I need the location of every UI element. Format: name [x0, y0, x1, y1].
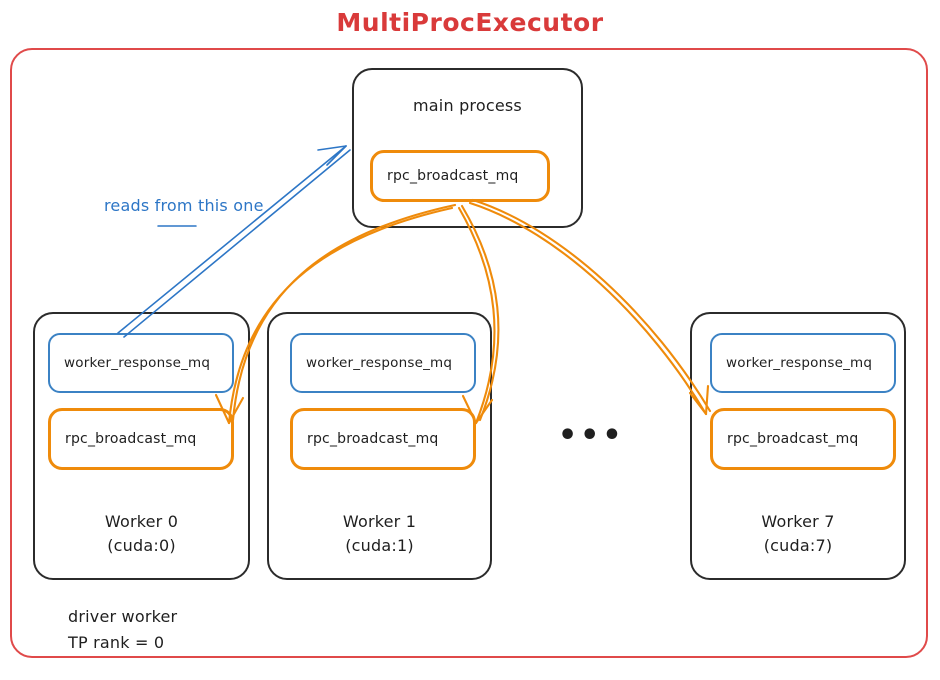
diagram-title: MultiProcExecutor	[0, 8, 940, 37]
worker-0-worker-response-mq-label: worker_response_mq	[50, 355, 210, 371]
worker-0-rpc-broadcast-mq-box[interactable]: rpc_broadcast_mq	[48, 408, 234, 470]
more-workers-ellipsis: •••	[558, 421, 618, 451]
worker-1-caption: Worker 1 (cuda:1)	[269, 510, 490, 558]
worker-7-device: (cuda:7)	[692, 534, 904, 558]
driver-worker-label: driver worker	[68, 604, 177, 630]
worker-7-caption: Worker 7 (cuda:7)	[692, 510, 904, 558]
worker-1-worker-response-mq-box[interactable]: worker_response_mq	[290, 333, 476, 393]
worker-0-name: Worker 0	[35, 510, 248, 534]
main-rpc-broadcast-mq-box[interactable]: rpc_broadcast_mq	[370, 150, 550, 202]
driver-worker-note: driver worker TP rank = 0	[68, 604, 177, 656]
worker-1-worker-response-mq-label: worker_response_mq	[292, 355, 452, 371]
reads-from-this-one-note: reads from this one	[104, 196, 264, 215]
worker-7-rpc-broadcast-mq-label: rpc_broadcast_mq	[713, 431, 859, 447]
worker-7-rpc-broadcast-mq-box[interactable]: rpc_broadcast_mq	[710, 408, 896, 470]
worker-1-device: (cuda:1)	[269, 534, 490, 558]
worker-7-worker-response-mq-label: worker_response_mq	[712, 355, 872, 371]
tp-rank-label: TP rank = 0	[68, 630, 177, 656]
worker-7-name: Worker 7	[692, 510, 904, 534]
main-rpc-broadcast-mq-label: rpc_broadcast_mq	[373, 168, 519, 184]
worker-1-rpc-broadcast-mq-label: rpc_broadcast_mq	[293, 431, 439, 447]
worker-0-rpc-broadcast-mq-label: rpc_broadcast_mq	[51, 431, 197, 447]
diagram-canvas: MultiProcExecutor main process rpc_broad…	[0, 0, 940, 680]
worker-7-worker-response-mq-box[interactable]: worker_response_mq	[710, 333, 896, 393]
main-process-box: main process	[352, 68, 583, 228]
worker-0-caption: Worker 0 (cuda:0)	[35, 510, 248, 558]
worker-1-rpc-broadcast-mq-box[interactable]: rpc_broadcast_mq	[290, 408, 476, 470]
worker-1-name: Worker 1	[269, 510, 490, 534]
worker-0-worker-response-mq-box[interactable]: worker_response_mq	[48, 333, 234, 393]
worker-0-device: (cuda:0)	[35, 534, 248, 558]
main-process-title: main process	[354, 96, 581, 115]
